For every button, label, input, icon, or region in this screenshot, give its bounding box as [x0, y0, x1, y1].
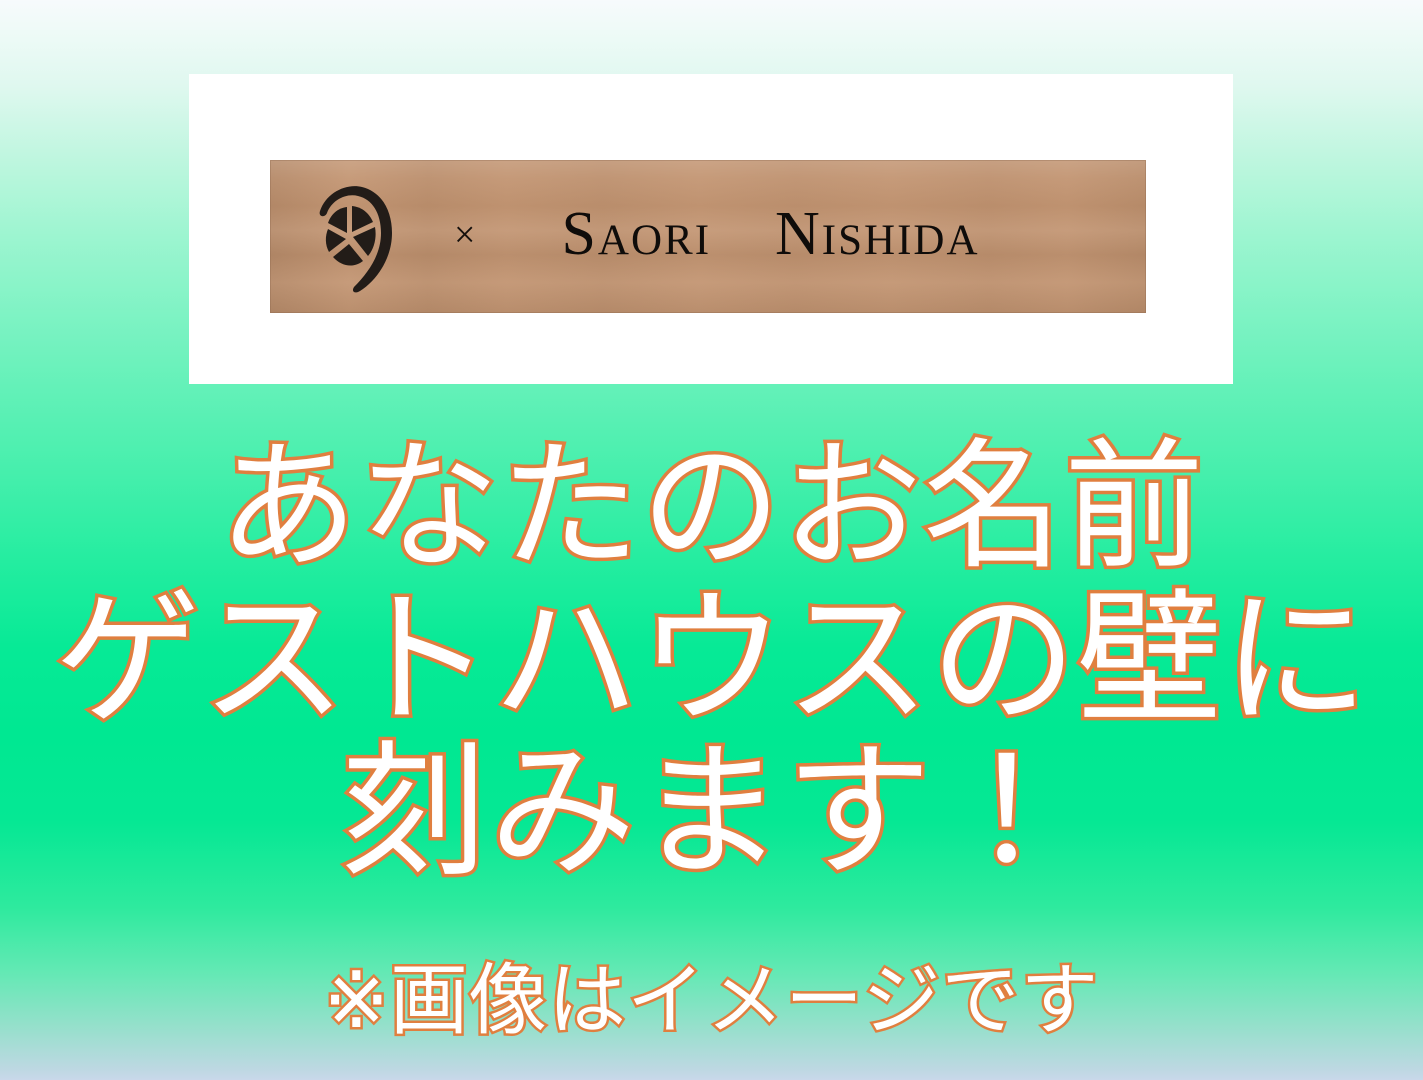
- plaque-engraving-row: × Saori Nishida: [270, 177, 1146, 297]
- image-disclaimer-note: ※画像はイメージです: [0, 955, 1423, 1047]
- headline-line-2: ゲストハウスの壁に: [0, 584, 1423, 736]
- engraved-guest-name: Saori Nishida: [561, 203, 979, 265]
- citrus-slice-logo-icon: [302, 177, 398, 297]
- promo-canvas: × Saori Nishida あなたのお名前 ゲストハウスの壁に 刻みます！ …: [0, 0, 1423, 1080]
- product-photo-card: × Saori Nishida: [189, 74, 1233, 384]
- headline-line-3: 刻みます！: [0, 736, 1423, 888]
- headline-block: あなたのお名前 ゲストハウスの壁に 刻みます！: [0, 432, 1423, 888]
- headline-line-1: あなたのお名前: [0, 432, 1423, 584]
- separator-cross-icon: ×: [454, 216, 475, 254]
- wooden-name-plaque: × Saori Nishida: [270, 160, 1146, 313]
